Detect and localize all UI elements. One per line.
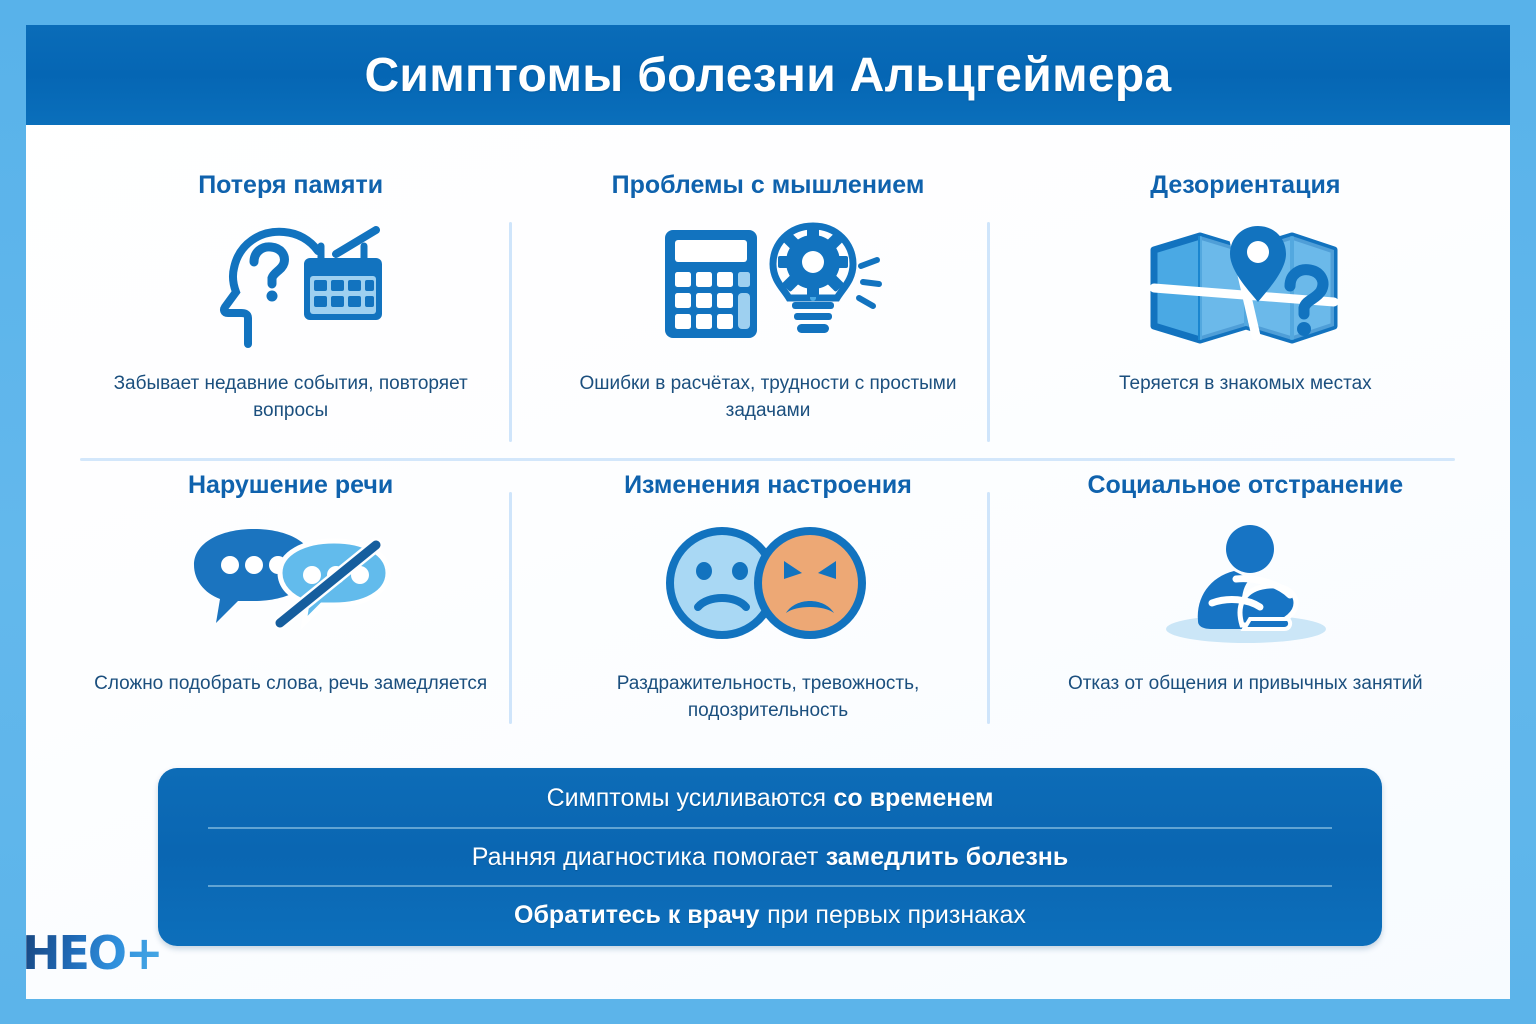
- symptom-card-description: Раздражительность, тревожность, подозрит…: [568, 670, 968, 725]
- symptom-card-mood-changes[interactable]: Изменения настроения Р: [529, 450, 1006, 750]
- key-message-line: Обратитесь к врачупри первых признаках: [202, 887, 1338, 944]
- symptoms-grid: Потеря памяти: [52, 150, 1484, 750]
- key-message-regular: при первых признаках: [767, 901, 1026, 930]
- panel-separator: [208, 885, 1332, 887]
- card-divider-vertical: [509, 492, 512, 724]
- calculator-lightbulb-gear-icon: [653, 214, 883, 354]
- row-divider-horizontal: [80, 458, 1455, 461]
- symptom-card-memory-loss[interactable]: Потеря памяти: [52, 150, 529, 450]
- key-message-bold: Обратитесь к врачу: [514, 901, 760, 930]
- key-message-line: Ранняя диагностика помогаетзамедлить бол…: [202, 829, 1338, 886]
- head-question-calendar-icon: [186, 214, 396, 354]
- panel-separator: [208, 827, 1332, 829]
- key-message-bold: замедлить болезнь: [826, 843, 1069, 872]
- symptom-card-description: Забывает недавние события, повторяет воп…: [91, 370, 491, 425]
- symptoms-row-2: Нарушение речи: [52, 450, 1484, 750]
- symptom-card-speech-impairment[interactable]: Нарушение речи: [52, 450, 529, 750]
- symptom-card-disorientation[interactable]: Дезориентация: [1007, 150, 1484, 450]
- card-divider-vertical: [509, 222, 512, 442]
- card-divider-vertical: [987, 492, 990, 724]
- page-title: Симптомы болезни Альцгеймера: [364, 48, 1171, 103]
- symptom-card-description: Теряется в знакомых местах: [1119, 370, 1372, 398]
- symptom-card-title: Изменения настроения: [624, 472, 912, 500]
- symptom-card-title: Дезориентация: [1150, 172, 1340, 200]
- symptom-card-description: Отказ от общения и привычных занятий: [1068, 670, 1423, 698]
- card-divider-vertical: [987, 222, 990, 442]
- brand-logo-text: НЕО+: [22, 926, 162, 980]
- key-message-regular: Симптомы усиливаются: [547, 784, 826, 813]
- symptom-card-title: Социальное отстранение: [1087, 472, 1403, 500]
- brand-logo[interactable]: НЕО+: [22, 925, 162, 981]
- key-message-regular: Ранняя диагностика помогает: [472, 843, 818, 872]
- symptom-card-thinking-problems[interactable]: Проблемы с мышлением: [529, 150, 1006, 450]
- sad-angry-faces-icon: [660, 514, 875, 654]
- map-pin-question-icon: [1138, 214, 1353, 354]
- symptom-card-title: Проблемы с мышлением: [612, 172, 925, 200]
- symptom-card-title: Нарушение речи: [188, 472, 393, 500]
- key-message-line: Симптомы усиливаютсясо временем: [202, 770, 1338, 827]
- symptom-card-description: Сложно подобрать слова, речь замедляется: [94, 670, 487, 698]
- key-message-bold: со временем: [834, 784, 994, 813]
- key-messages-panel: Симптомы усиливаютсясо временем Ранняя д…: [158, 768, 1382, 946]
- symptom-card-social-withdrawal[interactable]: Социальное отстранение: [1007, 450, 1484, 750]
- speech-bubbles-slash-icon: [176, 514, 406, 654]
- symptoms-row-1: Потеря памяти: [52, 150, 1484, 450]
- poster-root: Симптомы болезни Альцгеймера Потеря памя…: [0, 0, 1536, 1024]
- symptom-card-title: Потеря памяти: [198, 172, 383, 200]
- symptom-card-description: Ошибки в расчётах, трудности с простыми …: [568, 370, 968, 425]
- sitting-person-hugging-knees-icon: [1138, 514, 1353, 654]
- header-bar: Симптомы болезни Альцгеймера: [26, 25, 1510, 125]
